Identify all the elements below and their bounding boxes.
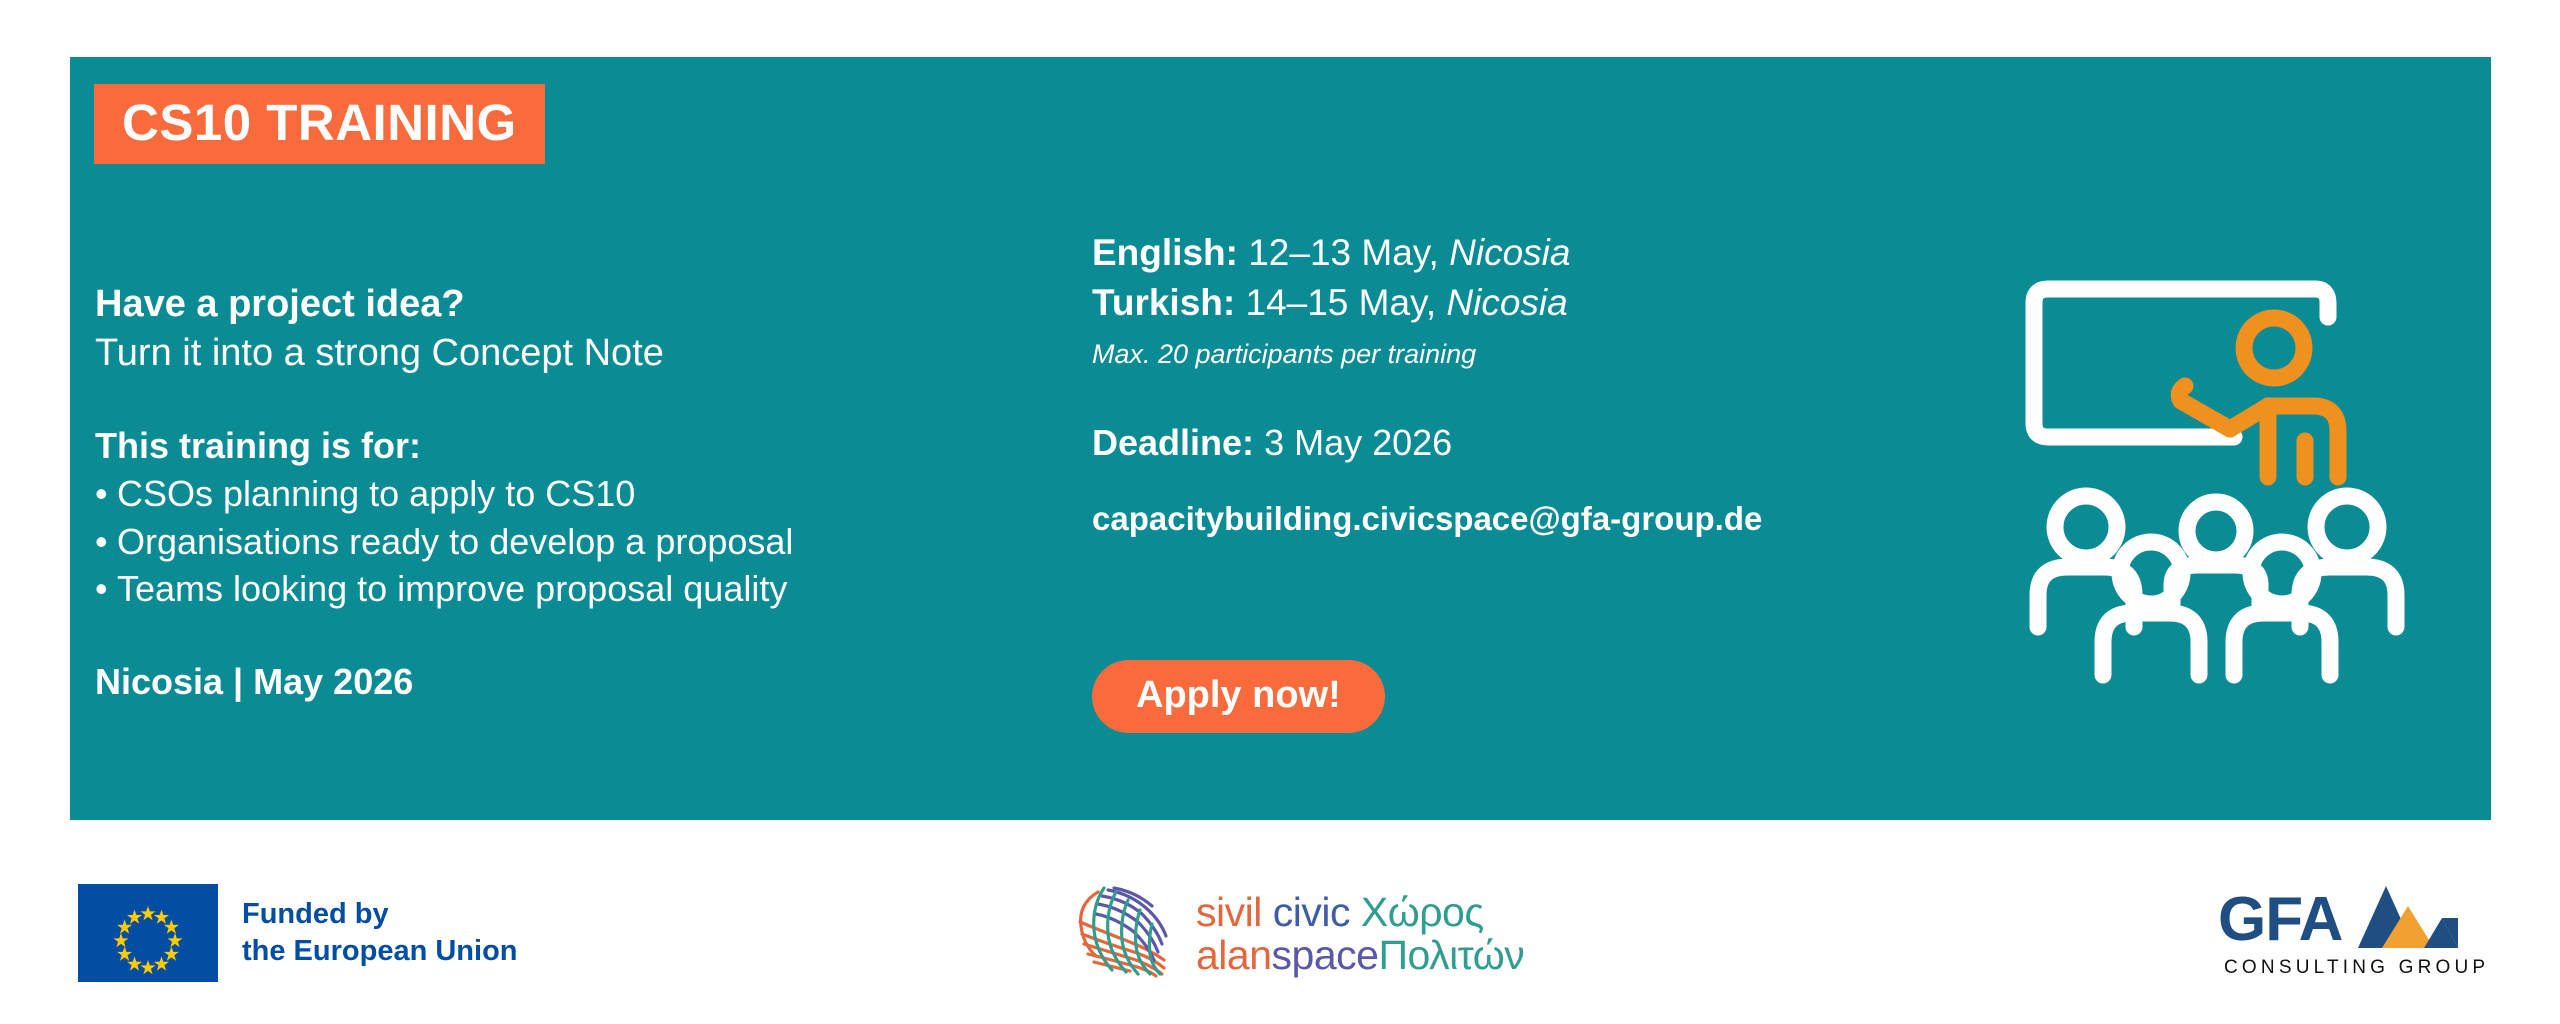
gfa-logo: GFA CONSULTING GROUP (2218, 880, 2508, 979)
bullet-icon: • (95, 470, 117, 518)
contact-email[interactable]: capacitybuilding.civicspace@gfa-group.de (1092, 500, 2052, 538)
headline-subtitle: Turn it into a strong Concept Note (95, 329, 1035, 378)
eu-funding-logo: Funded by the European Union (78, 884, 518, 982)
eu-funding-line1: Funded by (242, 896, 518, 933)
location-date-line: Nicosia | May 2026 (95, 659, 1035, 706)
training-title-text: CS10 TRAINING (122, 97, 517, 148)
civic-space-mark-icon (1068, 882, 1186, 986)
footer-logos: Funded by the European Union (0, 820, 2560, 1024)
left-content-column: Have a project idea? Turn it into a stro… (95, 280, 1035, 705)
list-item: •Teams looking to improve proposal quali… (95, 565, 1035, 613)
participant-figures-back-row (2038, 496, 2396, 627)
deadline-row: Deadline: 3 May 2026 (1092, 422, 2052, 464)
session-city: Nicosia (1446, 282, 1567, 323)
deadline-label: Deadline: (1092, 422, 1254, 463)
list-item-label: Teams looking to improve proposal qualit… (117, 568, 787, 609)
list-item-label: CSOs planning to apply to CS10 (117, 473, 635, 514)
training-title-badge: CS10 TRAINING (94, 84, 545, 164)
eu-stars (114, 906, 183, 974)
session-language-label: English: (1092, 232, 1238, 273)
capacity-note: Max. 20 participants per training (1092, 336, 2052, 374)
civic-space-row-2: alanspaceΠολιτών (1196, 935, 1524, 976)
civic-space-wordmark: sivil civic Χώρος alanspaceΠολιτών (1196, 892, 1524, 976)
session-language-label: Turkish: (1092, 282, 1235, 323)
gfa-logo-top: GFA (2218, 880, 2508, 948)
civic-space-tr-1: sivil (1196, 889, 1262, 935)
audience-heading: This training is for: (95, 423, 1035, 470)
classroom-training-illustration (2020, 255, 2420, 715)
gfa-wordmark: GFA (2218, 892, 2342, 948)
list-item: •CSOs planning to apply to CS10 (95, 470, 1035, 518)
spacer (95, 377, 1035, 423)
session-dates: 14–15 May, (1246, 282, 1437, 323)
eu-funding-line2: the European Union (242, 933, 518, 970)
spacer (95, 613, 1035, 659)
audience-bullet-list: •CSOs planning to apply to CS10 •Organis… (95, 470, 1035, 613)
eu-flag-icon (78, 884, 218, 982)
headline-question: Have a project idea? (95, 280, 1035, 329)
poster-canvas: CS10 TRAINING Have a project idea? Turn … (0, 0, 2560, 1024)
civic-space-el-2: Πολιτών (1378, 932, 1524, 978)
civic-space-tr-2: alan (1196, 932, 1272, 978)
eu-funding-text: Funded by the European Union (242, 896, 518, 970)
civic-space-el-1: Χώρος (1361, 889, 1484, 935)
session-row-english: English: 12–13 May, Nicosia (1092, 228, 2052, 278)
session-row-turkish: Turkish: 14–15 May, Nicosia (1092, 278, 2052, 328)
gfa-tagline: CONSULTING GROUP (2218, 957, 2508, 979)
list-item-label: Organisations ready to develop a proposa… (117, 521, 793, 562)
civic-space-row-1: sivil civic Χώρος (1196, 892, 1524, 933)
civic-space-en-1: civic (1273, 889, 1350, 935)
list-item: •Organisations ready to develop a propos… (95, 518, 1035, 566)
session-dates: 12–13 May, (1248, 232, 1439, 273)
middle-content-column: English: 12–13 May, Nicosia Turkish: 14–… (1092, 228, 2052, 538)
gfa-mountain-icon (2346, 886, 2458, 948)
deadline-value: 3 May 2026 (1264, 422, 1452, 463)
session-city: Nicosia (1449, 232, 1570, 273)
apply-now-button[interactable]: Apply now! (1092, 660, 1385, 733)
bullet-icon: • (95, 518, 117, 566)
bullet-icon: • (95, 565, 117, 613)
trainer-figure (2179, 318, 2338, 477)
civic-space-en-2: space (1272, 932, 1379, 978)
civic-space-logo: sivil civic Χώρος alanspaceΠολιτών (1068, 882, 1524, 986)
